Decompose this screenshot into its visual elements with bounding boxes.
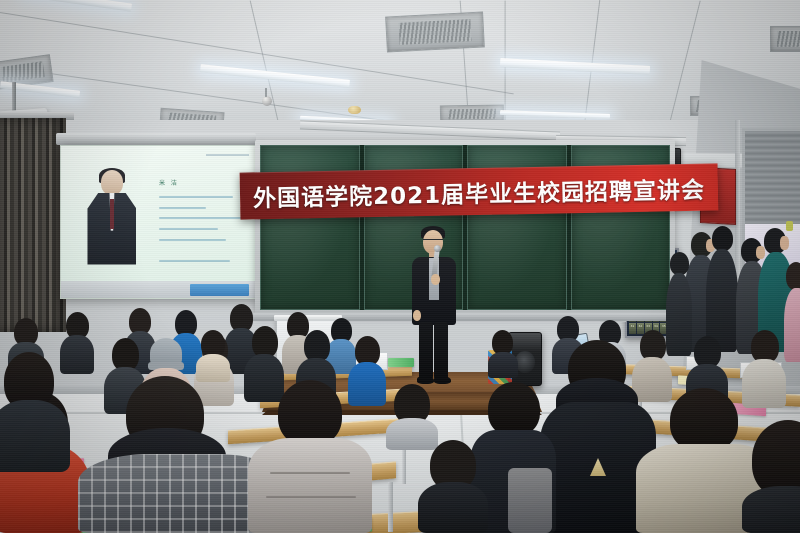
projection-screen: 米 洁: [60, 145, 258, 299]
projection-screen-case: [56, 133, 256, 145]
audience-member-front: [0, 352, 70, 472]
presenter-trousers: [434, 322, 448, 380]
air-vent: [385, 11, 485, 52]
portrait-head: [101, 170, 123, 195]
puffer-seam: [266, 496, 356, 498]
slide-title: 米 洁: [159, 178, 179, 187]
standing-student: [784, 262, 800, 362]
student-head: [488, 382, 540, 436]
window-blind[interactable]: [745, 131, 800, 226]
slide-bullet-line: [159, 260, 230, 262]
desk-leg: [388, 482, 393, 532]
student-body: [196, 354, 230, 382]
student-head: [670, 388, 738, 452]
audience-member-front: [248, 380, 372, 533]
presenter-shoe: [417, 376, 434, 384]
audience-member: [418, 440, 488, 533]
flyer: [388, 358, 414, 367]
puffer-seam: [270, 472, 350, 474]
audience-member-front: [742, 420, 800, 533]
window-curtain[interactable]: [0, 118, 66, 332]
ceiling-camera-mount: [265, 88, 267, 97]
student-head: [786, 262, 800, 290]
presenter-trousers: [419, 322, 433, 380]
student-face: [780, 236, 789, 250]
seated-legs: [508, 468, 552, 533]
student-body: [0, 400, 70, 472]
slide-taskbar-button[interactable]: [190, 284, 249, 296]
student-body: [248, 438, 372, 533]
portrait-tie: [110, 199, 114, 229]
slide-bullet-line: [159, 239, 226, 241]
student-body: [488, 352, 518, 378]
presenter-hand: [431, 274, 440, 285]
presenter-glasses-icon: [423, 239, 443, 243]
banner-text: 外国语学院2021届毕业生校园招聘宣讲会: [253, 171, 706, 214]
slide-bullet-line: [159, 207, 206, 209]
standing-student: [706, 226, 738, 352]
slide-bullet-line: [159, 196, 233, 198]
classroom-photo-scene: 123456 789101112 131415161718 1920212223…: [0, 0, 800, 533]
audience-member: [196, 330, 230, 382]
audience-member: [488, 330, 518, 378]
slide-portrait: [86, 170, 137, 264]
projector-mount-rod: [12, 82, 16, 112]
presenter-shoe: [434, 376, 451, 384]
slide-header-text: [206, 154, 249, 156]
student-head: [670, 252, 689, 275]
student-head: [278, 380, 342, 446]
student-body: [742, 486, 800, 533]
student-body: [418, 482, 488, 533]
slide-bullet-line: [159, 217, 245, 219]
student-head: [712, 226, 733, 251]
student-body: [784, 288, 800, 362]
air-vent: [770, 26, 800, 52]
ceiling-camera-icon: [262, 96, 272, 106]
slide-bullet-line: [159, 228, 218, 230]
presenter-hand: [413, 310, 421, 321]
microphone-head-icon: [433, 245, 441, 253]
smoke-detector-icon: [348, 106, 361, 114]
event-banner: 外国语学院2021届毕业生校园招聘宣讲会: [240, 163, 719, 219]
